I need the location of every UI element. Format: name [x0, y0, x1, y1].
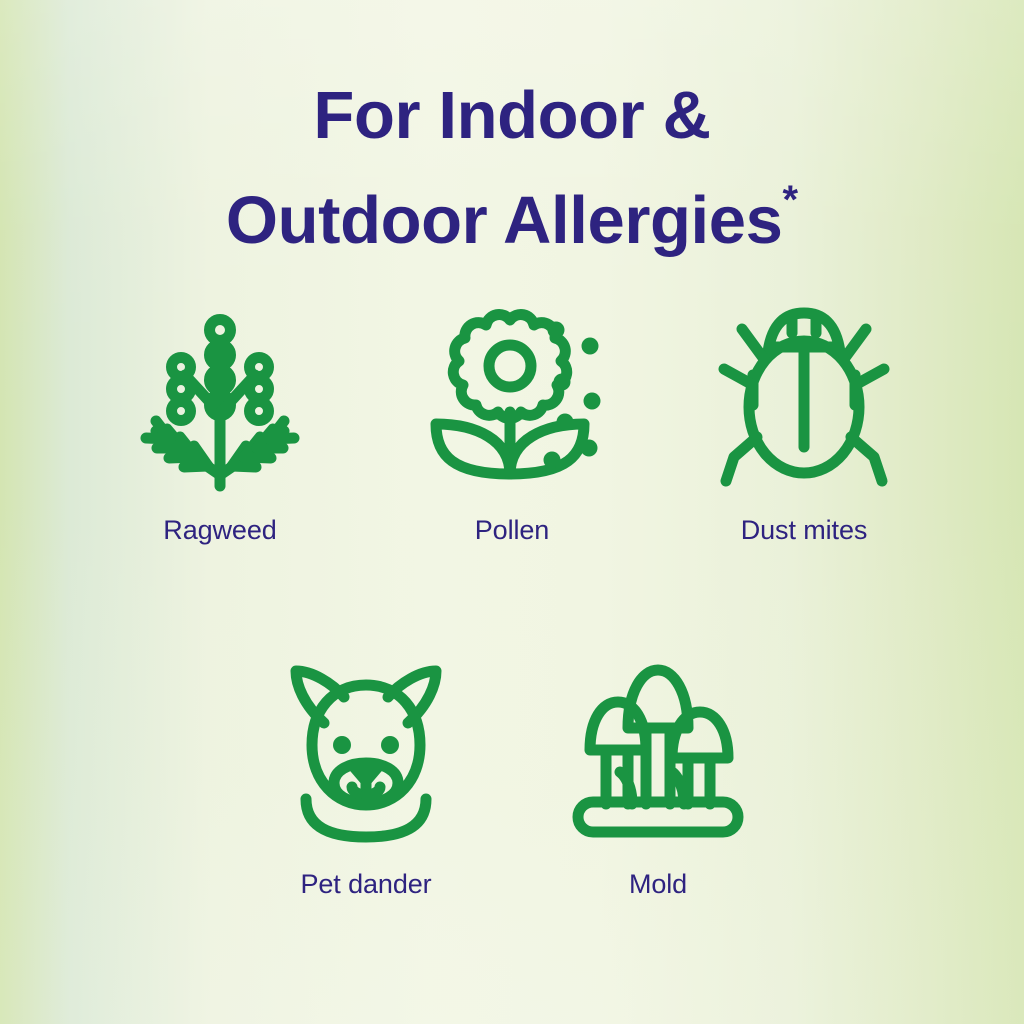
allergen-item-pollen: Pollen	[366, 300, 658, 546]
dog-head-icon	[275, 654, 457, 846]
dust-mite-bug-icon	[713, 300, 895, 492]
flower-pollen-icon	[421, 300, 603, 492]
ragweed-plant-icon	[129, 300, 311, 492]
allergen-item-dust-mites: Dust mites	[658, 300, 950, 546]
footnote-asterisk: *	[782, 178, 798, 222]
allergen-row-2: Pet dander	[0, 654, 1024, 900]
allergen-label-pet-dander: Pet dander	[300, 868, 431, 900]
page-title-line-2-text: Outdoor Allergies	[226, 183, 783, 258]
allergen-row-1: Ragweed	[0, 300, 1024, 546]
page-title: For Indoor & Outdoor Allergies*	[0, 74, 1024, 263]
page-title-line-1: For Indoor &	[0, 74, 1024, 158]
page-title-line-2: Outdoor Allergies*	[0, 158, 1024, 263]
allergen-label-pollen: Pollen	[475, 514, 549, 546]
allergy-infographic-card: For Indoor & Outdoor Allergies*	[0, 0, 1024, 1024]
allergen-item-mold: Mold	[512, 654, 804, 900]
allergen-label-mold: Mold	[629, 868, 687, 900]
allergen-label-ragweed: Ragweed	[163, 514, 276, 546]
allergen-label-dust-mites: Dust mites	[741, 514, 868, 546]
mushrooms-mold-icon	[567, 654, 749, 846]
allergen-item-pet-dander: Pet dander	[220, 654, 512, 900]
allergen-grid: Ragweed	[0, 300, 1024, 900]
allergen-item-ragweed: Ragweed	[74, 300, 366, 546]
